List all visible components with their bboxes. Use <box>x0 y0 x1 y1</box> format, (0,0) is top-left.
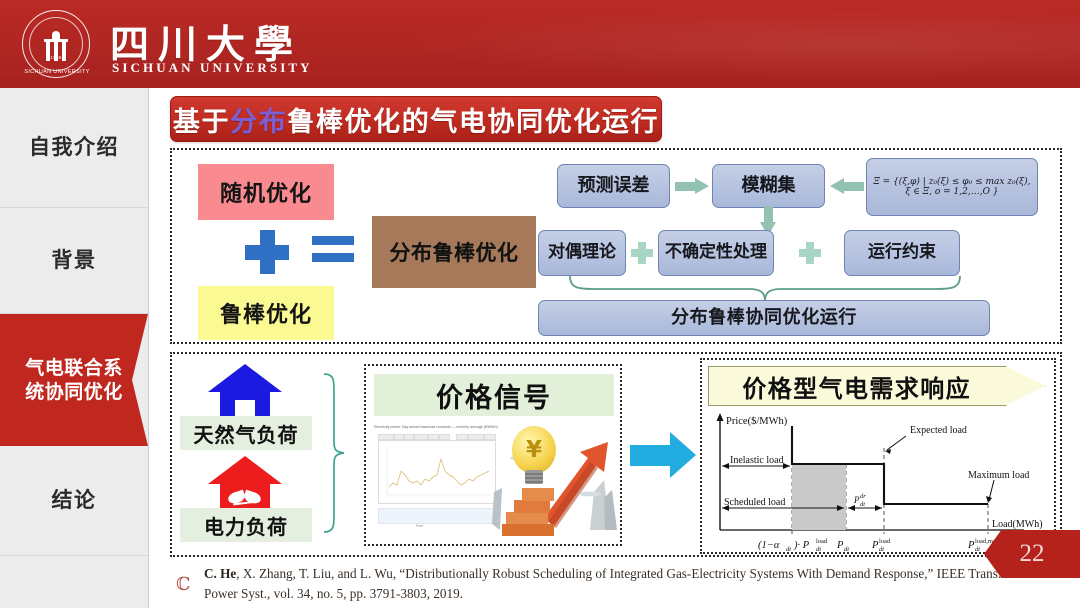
formula-line-2: ξ ∈ Ξ, o = 1,2,…,O } <box>873 187 1030 197</box>
svg-text:load: load <box>879 538 891 545</box>
header-banner: 1896 SICHUAN UNIVERSITY 四川大學 SICHUAN UNI… <box>0 0 1080 88</box>
chart-thumbnail-toolbar <box>378 434 494 439</box>
title-highlight: 分布 <box>230 107 287 138</box>
bottom-diagram-panel: 天然气负荷 电力负荷 价格信号 Electricity prices: Day-… <box>170 352 1062 557</box>
svg-text:Maximum load: Maximum load <box>968 470 1029 481</box>
svg-text:dt: dt <box>860 501 865 508</box>
svg-text:dt: dt <box>816 546 821 553</box>
curly-brace-connector <box>564 276 966 302</box>
power-load-house-icon <box>208 456 282 512</box>
sidebar-item-gas-electric-coopt[interactable]: 气电联合系 统协同优化 <box>0 314 148 446</box>
title-prefix: 基于 <box>173 107 230 138</box>
flow-box-uncertainty-handling: 不确定性处理 <box>658 230 774 276</box>
seal-gate-glyph <box>44 31 68 61</box>
svg-text:P: P <box>853 495 860 505</box>
svg-text:dr: dr <box>860 493 866 500</box>
flow-box-dual-theory: 对偶理论 <box>538 230 626 276</box>
sidebar-item-label: 背景 <box>52 247 97 274</box>
plus-sign-icon <box>245 230 289 274</box>
equals-sign-icon <box>312 236 354 266</box>
gas-load-house-icon <box>208 364 282 420</box>
seal-year: 1896 <box>50 55 61 60</box>
demand-response-panel: 价格型气电需求响应 <box>700 358 1056 554</box>
chart-thumbnail-footer: Price <box>416 524 423 528</box>
sidebar-item-conclusion[interactable]: 结论 <box>0 446 148 556</box>
svg-text:)· P: )· P <box>793 540 810 551</box>
flow-box-operation-constraint: 运行约束 <box>844 230 960 276</box>
title-suffix: 鲁棒优化的气电协同优化运行 <box>287 107 659 138</box>
svg-text:Load(MWh): Load(MWh) <box>992 519 1043 530</box>
sidebar-item-label-line1: 气电联合系 <box>25 356 123 380</box>
arrow-right-large-icon <box>630 432 696 478</box>
svg-text:P: P <box>836 540 844 551</box>
svg-text:dt: dt <box>975 546 980 553</box>
seal-arc-text: SICHUAN UNIVERSITY <box>23 11 91 79</box>
ambiguity-set-formula: Ξ = {(ξ,φ) | z₀(ξ) ≤ φ₀ ≤ max z₀(ξ), ξ ∈… <box>866 158 1038 216</box>
svg-text:dt: dt <box>844 546 849 553</box>
sidebar-item-self-intro[interactable]: 自我介绍 <box>0 88 148 208</box>
slide-title-text: 基于分布鲁棒优化的气电协同优化运行 <box>173 100 659 139</box>
sidebar-item-label: 结论 <box>52 487 97 514</box>
svg-text:load: load <box>816 538 828 545</box>
box-distributionally-robust-optimization: 分布鲁棒优化 <box>372 216 536 288</box>
svg-text:Expected load: Expected load <box>910 425 967 436</box>
sidebar-item-background[interactable]: 背景 <box>0 208 148 314</box>
sidebar-item-label-line2: 统协同优化 <box>25 380 123 404</box>
flow-box-dro-coordinated-operation: 分布鲁棒协同优化运行 <box>538 300 990 336</box>
svg-text:Price($/MWh): Price($/MWh) <box>726 416 788 427</box>
svg-text:P: P <box>967 540 975 551</box>
active-item-notch <box>132 314 148 446</box>
citation-text: C. He, X. Zhang, T. Liu, and L. Wu, “Dis… <box>178 564 1014 606</box>
slide-title-banner: 基于分布鲁棒优化的气电协同优化运行 <box>170 96 662 142</box>
svg-text:P: P <box>871 540 879 551</box>
page-number-badge: 22 <box>984 530 1080 578</box>
chart-thumbnail-caption: Electricity prices: Day-ahead baseload c… <box>372 424 500 431</box>
loads-brace-connector <box>322 372 346 534</box>
plus-sign-icon <box>799 242 821 264</box>
yen-symbol-icon: ¥ <box>520 436 548 464</box>
chart-thumbnail-plot <box>378 440 496 504</box>
formula-line-1: Ξ = {(ξ,φ) | z₀(ξ) ≤ φ₀ ≤ max z₀(ξ), <box>873 177 1030 187</box>
price-signal-panel: 价格信号 Electricity prices: Day-ahead basel… <box>364 364 622 546</box>
electricity-price-chart-thumbnail: Electricity prices: Day-ahead baseload c… <box>372 424 500 536</box>
sidebar-item-label: 自我介绍 <box>29 134 119 161</box>
svg-text:Inelastic load: Inelastic load <box>730 455 784 466</box>
price-signal-title: 价格信号 <box>374 374 614 416</box>
demand-response-banner-text: 价格型气电需求响应 <box>708 366 1005 406</box>
sidebar-nav: 自我介绍 背景 气电联合系 统协同优化 结论 <box>0 88 149 608</box>
plus-sign-icon <box>631 242 653 264</box>
brand-name-en: SICHUAN UNIVERSITY <box>112 60 313 76</box>
university-seal-icon: 1896 SICHUAN UNIVERSITY <box>22 10 90 78</box>
box-stochastic-optimization: 随机优化 <box>198 164 334 220</box>
leaf-icon <box>228 488 262 508</box>
box-robust-optimization: 鲁棒优化 <box>198 286 334 340</box>
sidebar-filler <box>0 556 148 608</box>
light-bulb-icon: ¥ <box>506 426 562 492</box>
flow-box-fuzzy-set: 模糊集 <box>712 164 825 208</box>
svg-text:dt: dt <box>879 546 884 553</box>
top-diagram-panel: 随机优化 鲁棒优化 分布鲁棒优化 预测误差 模糊集 Ξ = {(ξ,φ) | z… <box>170 148 1062 344</box>
flow-box-forecast-error: 预测误差 <box>557 164 670 208</box>
citation-rest: , X. Zhang, T. Liu, and L. Wu, “Distribu… <box>204 566 1001 601</box>
arrow-right-icon <box>675 178 709 194</box>
chart-thumbnail-range-slider[interactable] <box>378 508 496 524</box>
demand-response-banner: 价格型气电需求响应 <box>708 366 1046 406</box>
svg-text:Scheduled load: Scheduled load <box>724 497 785 508</box>
arrow-left-icon <box>830 178 864 194</box>
citation-author: C. He <box>204 566 236 581</box>
svg-text:(1−α: (1−α <box>758 540 780 551</box>
header-gradient-wash <box>320 0 1080 88</box>
power-load-label: 电力负荷 <box>180 508 312 542</box>
gas-load-label: 天然气负荷 <box>180 416 312 450</box>
svg-text:dt: dt <box>786 546 791 553</box>
